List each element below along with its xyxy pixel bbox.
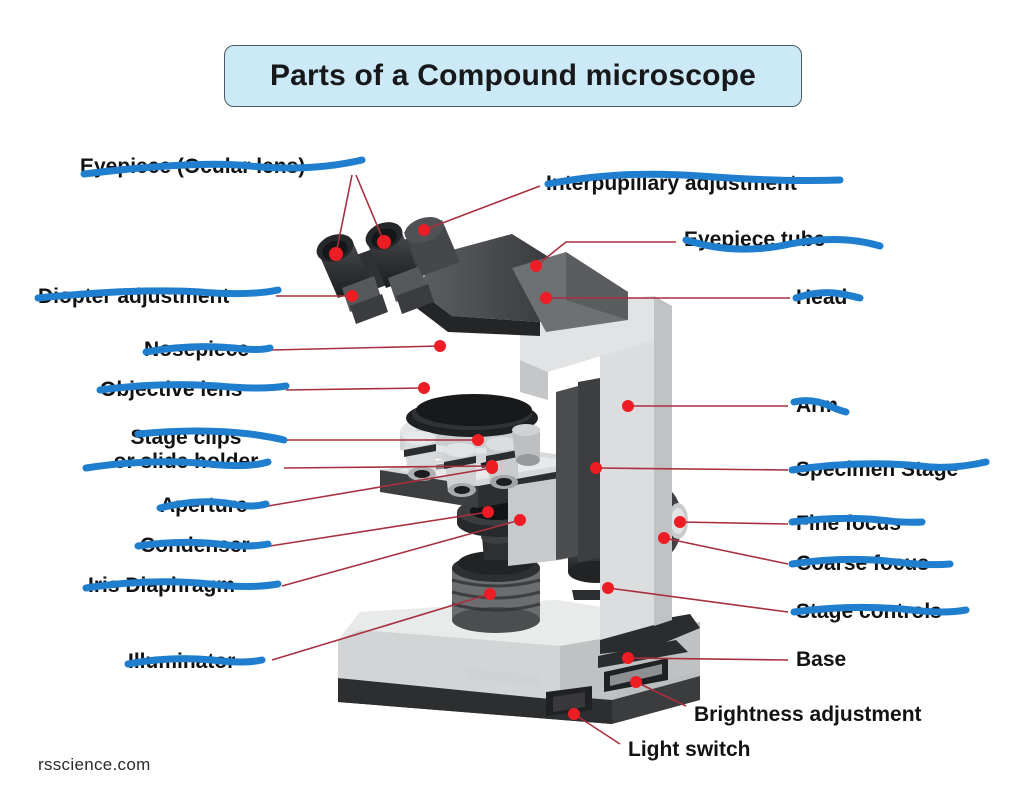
label-stage-controls: Stage controls (796, 600, 942, 624)
label-stage-controls-line-1: Stage controls (796, 600, 942, 624)
label-diopter-adjustment: Diopter adjustment (38, 285, 229, 309)
label-base: Base (796, 648, 846, 672)
label-illuminator: Illuminator (128, 650, 235, 674)
label-head: Head (796, 286, 847, 310)
label-eyepiece-line-1: Eyepiece (Ocular lens) (80, 155, 305, 179)
label-condenser: Condenser (140, 534, 250, 558)
label-aperture-line-1: Aperture (160, 494, 248, 518)
label-illuminator-line-1: Illuminator (128, 650, 235, 674)
label-diopter-adjustment-line-1: Diopter adjustment (38, 285, 229, 309)
label-specimen-stage-line-1: Specimen Stage (796, 458, 958, 482)
label-base-line-1: Base (796, 648, 846, 672)
label-objective-lens: Objective lens (100, 378, 242, 402)
label-stage-clips: Stage clips or slide holder (86, 426, 286, 473)
diagram-page: Parts of a Compound microscope Eyepiece … (0, 0, 1024, 807)
title-banner: Parts of a Compound microscope (224, 45, 802, 107)
label-coarse-focus: Coarse focus (796, 552, 929, 576)
label-arm-line-1: Arm (796, 394, 838, 418)
label-coarse-focus-line-1: Coarse focus (796, 552, 929, 576)
microscope-illustration (0, 0, 1024, 807)
label-eyepiece: Eyepiece (Ocular lens) (80, 155, 305, 179)
label-interpupillary-adjustment: Interpupillary adjustment (546, 172, 797, 196)
label-nosepiece-line-1: Nosepiece (144, 338, 249, 362)
label-interpupillary-adjustment-line-1: Interpupillary adjustment (546, 172, 797, 196)
label-stage-clips-line-2: or slide holder (86, 450, 286, 474)
label-nosepiece: Nosepiece (144, 338, 249, 362)
label-fine-focus-line-1: Fine focus (796, 512, 901, 536)
label-brightness-adjustment: Brightness adjustment (694, 703, 922, 727)
label-light-switch-line-1: Light switch (628, 738, 751, 762)
page-title: Parts of a Compound microscope (270, 59, 756, 93)
label-brightness-adjustment-line-1: Brightness adjustment (694, 703, 922, 727)
label-iris-diaphragm: Iris Diaphragm (88, 574, 235, 598)
label-light-switch: Light switch (628, 738, 751, 762)
label-condenser-line-1: Condenser (140, 534, 250, 558)
label-eyepiece-tube: Eyepiece tube (684, 228, 825, 252)
label-specimen-stage: Specimen Stage (796, 458, 958, 482)
label-stage-clips-line-1: Stage clips (86, 426, 286, 450)
label-head-line-1: Head (796, 286, 847, 310)
label-iris-diaphragm-line-1: Iris Diaphragm (88, 574, 235, 598)
site-watermark: rsscience.com (38, 755, 151, 775)
label-aperture: Aperture (160, 494, 248, 518)
label-fine-focus: Fine focus (796, 512, 901, 536)
label-eyepiece-tube-line-1: Eyepiece tube (684, 228, 825, 252)
label-arm: Arm (796, 394, 838, 418)
label-objective-lens-line-1: Objective lens (100, 378, 242, 402)
